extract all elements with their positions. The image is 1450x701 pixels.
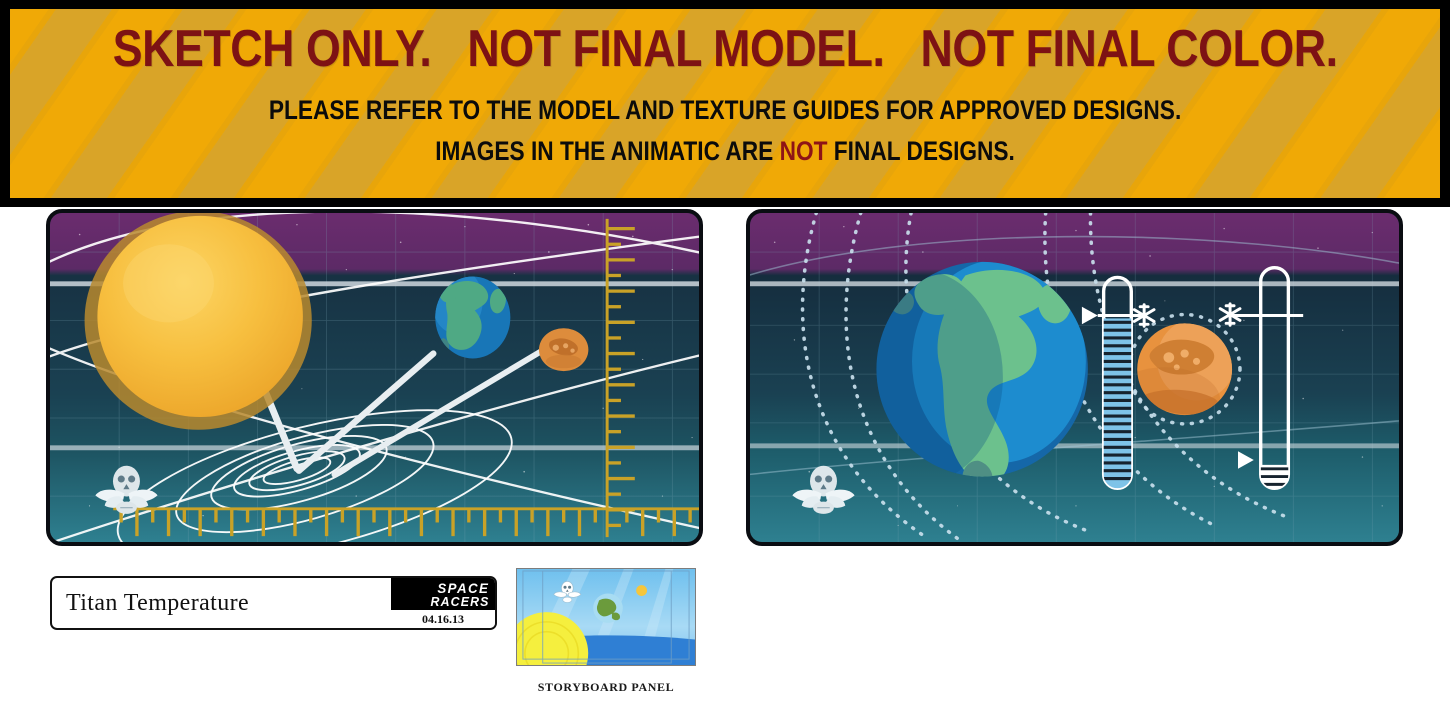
thermometer-comparison-illustration — [750, 213, 1399, 542]
slug-label: Titan Temperature SPACE RACERS 04.16.13 — [50, 576, 497, 630]
storyboard-thumbnail-block: STORYBOARD PANEL — [516, 568, 696, 695]
storyboard-page: SKETCH ONLY. NOT FINAL MODEL. NOT FINAL … — [0, 0, 1450, 701]
storyboard-panel-left[interactable] — [46, 209, 703, 546]
warning-banner-stripes: SKETCH ONLY. NOT FINAL MODEL. NOT FINAL … — [10, 9, 1440, 198]
thumb-earth — [593, 593, 623, 622]
space-racers-logo: SPACE RACERS — [391, 578, 495, 609]
scene-title: Titan Temperature — [52, 578, 391, 628]
sun-body — [85, 213, 312, 430]
banner-subheading: PLEASE REFER TO THE MODEL AND TEXTURE GU… — [269, 97, 1181, 124]
banner-heading: SKETCH ONLY. NOT FINAL MODEL. NOT FINAL … — [113, 23, 1338, 75]
banner-note: IMAGES IN THE ANIMATIC ARE NOT FINAL DES… — [435, 138, 1015, 165]
storyboard-panel-right[interactable] — [746, 209, 1403, 546]
logo-line-1: SPACE — [438, 581, 490, 595]
logo-line-2: RACERS — [430, 595, 489, 609]
banner-note-after: FINAL DESIGNS. — [827, 136, 1014, 166]
thermometer-scale-ticks — [1104, 322, 1132, 478]
warning-banner: SKETCH ONLY. NOT FINAL MODEL. NOT FINAL … — [0, 0, 1450, 207]
thumbnail-illustration — [517, 569, 695, 665]
thumb-small-sun-dot — [636, 585, 647, 596]
titan-body — [539, 328, 588, 371]
thumbnail-caption: STORYBOARD PANEL — [516, 680, 696, 695]
slug-logo-block: SPACE RACERS 04.16.13 — [391, 578, 495, 628]
banner-note-before: IMAGES IN THE ANIMATIC ARE — [435, 136, 779, 166]
storyboard-thumbnail[interactable] — [516, 568, 696, 666]
slug-date: 04.16.13 — [391, 609, 495, 628]
solar-system-illustration — [50, 213, 699, 542]
banner-note-highlight: NOT — [780, 136, 828, 166]
